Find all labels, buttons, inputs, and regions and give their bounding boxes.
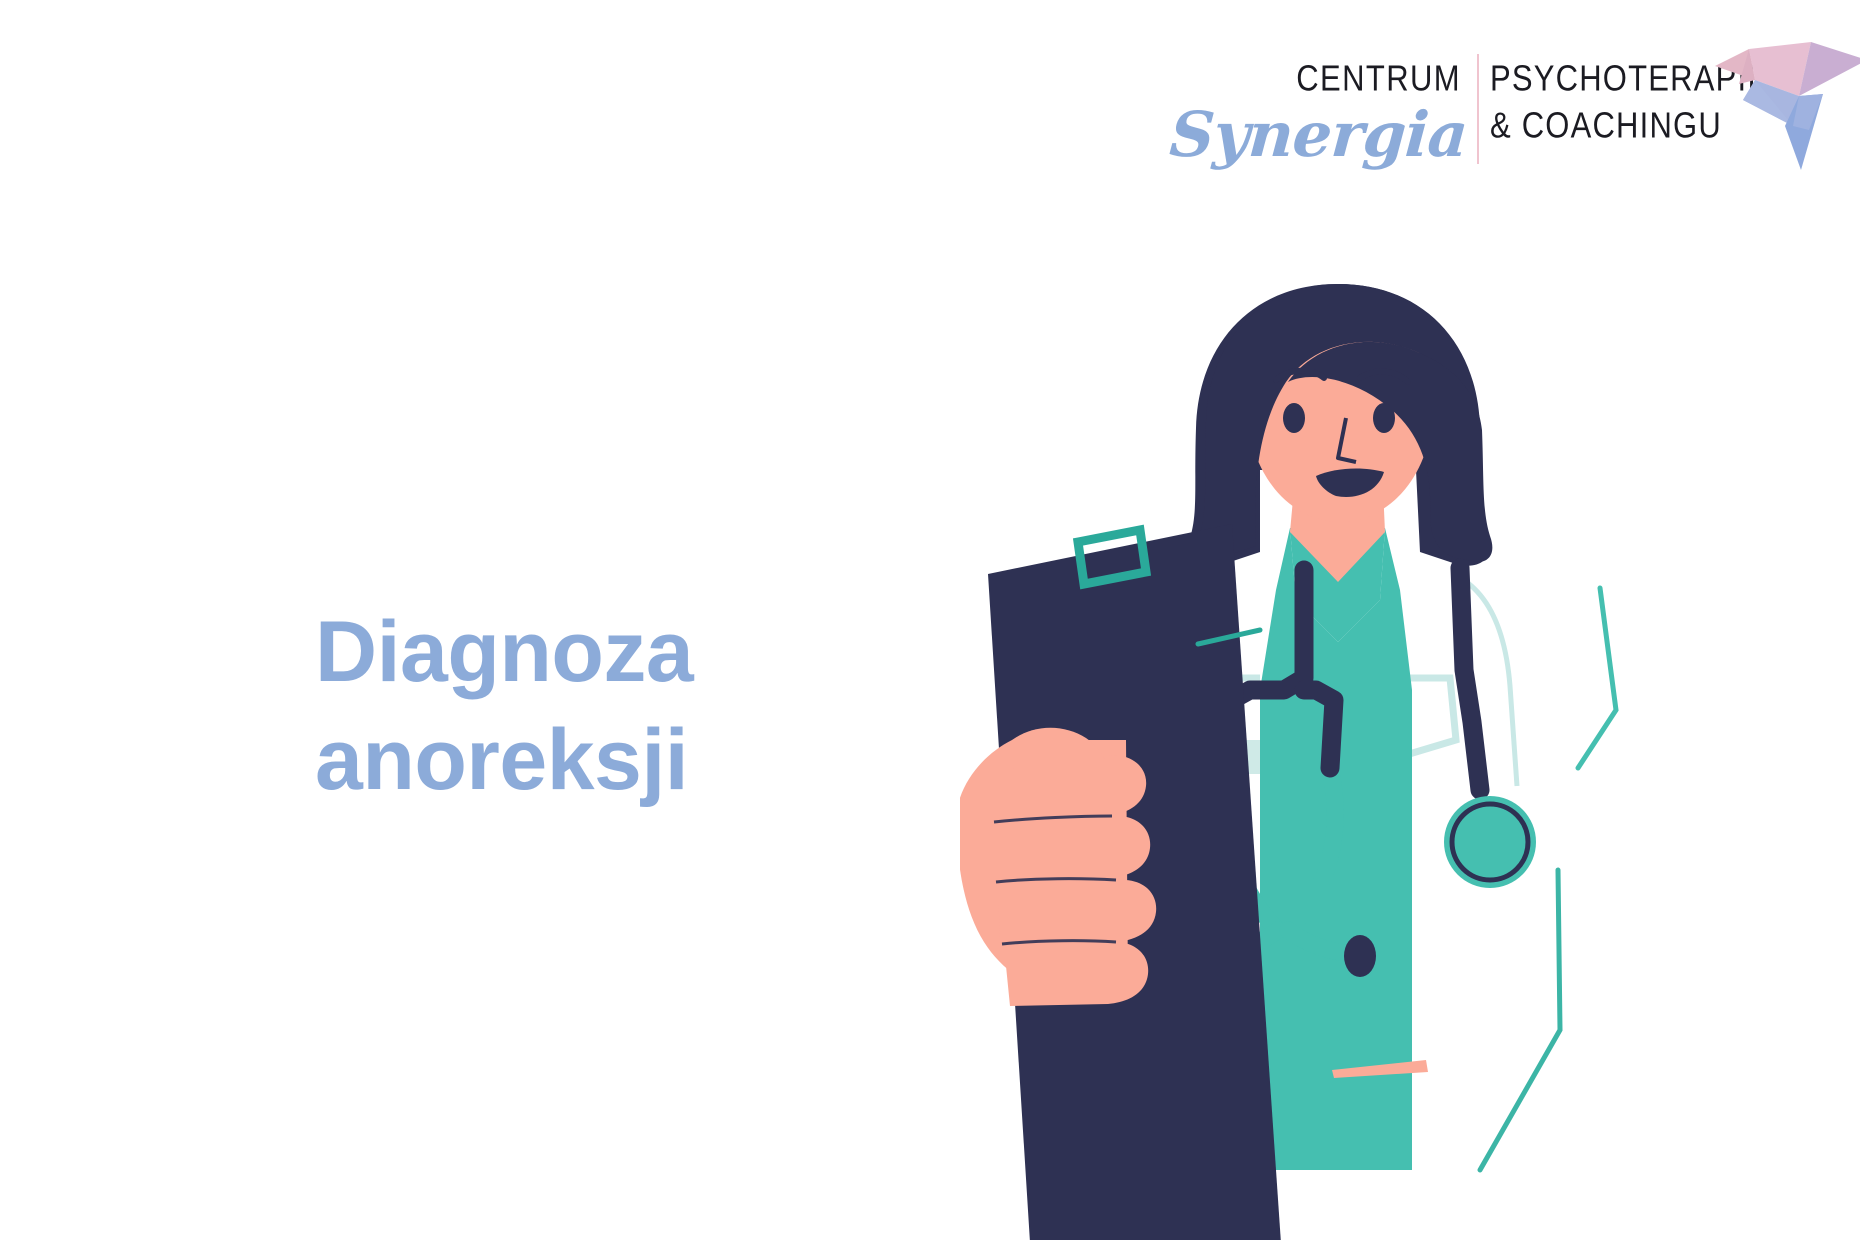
logo-brand-name: Synergia — [1167, 98, 1469, 171]
brand-logo[interactable]: CENTRUM Synergia PSYCHOTERAPII & COACHIN… — [1245, 48, 1845, 188]
eye-left — [1283, 403, 1305, 433]
logo-coachingu-label: & COACHINGU — [1490, 105, 1722, 147]
logo-centrum-label: CENTRUM — [1296, 58, 1461, 100]
logo-text-group: CENTRUM Synergia PSYCHOTERAPII & COACHIN… — [1245, 48, 1705, 168]
page-title-line-1: Diagnoza — [315, 598, 1015, 706]
peach-accent-stroke — [1330, 1052, 1430, 1082]
eye-right — [1373, 403, 1395, 433]
hand — [960, 728, 1156, 1006]
page-title-line-2: anoreksji — [315, 706, 1015, 814]
doctor-illustration — [960, 270, 1860, 1240]
logo-divider — [1477, 54, 1479, 164]
slide-canvas: CENTRUM Synergia PSYCHOTERAPII & COACHIN… — [0, 0, 1860, 1240]
origami-bird-icon — [1715, 22, 1860, 172]
page-title: Diagnoza anoreksji — [315, 598, 1015, 815]
